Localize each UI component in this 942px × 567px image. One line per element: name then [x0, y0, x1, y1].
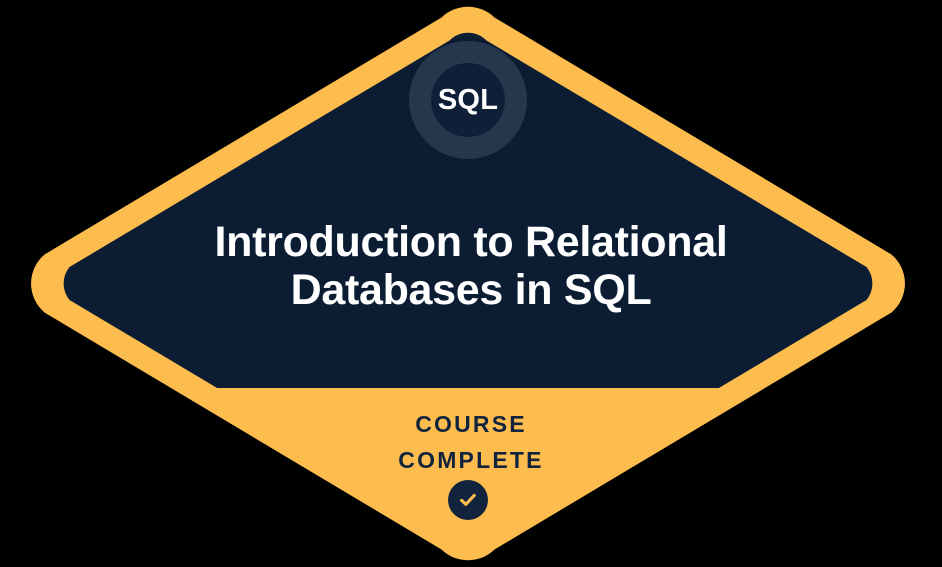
sql-ring-inner: SQL	[431, 63, 505, 137]
check-mark-glyph	[457, 489, 479, 511]
technology-label: SQL	[438, 86, 498, 115]
sql-ring-icon: SQL	[409, 41, 527, 159]
course-completion-badge: SQL Introduction to Relational Databases…	[0, 0, 942, 567]
check-circle-icon	[448, 480, 488, 520]
